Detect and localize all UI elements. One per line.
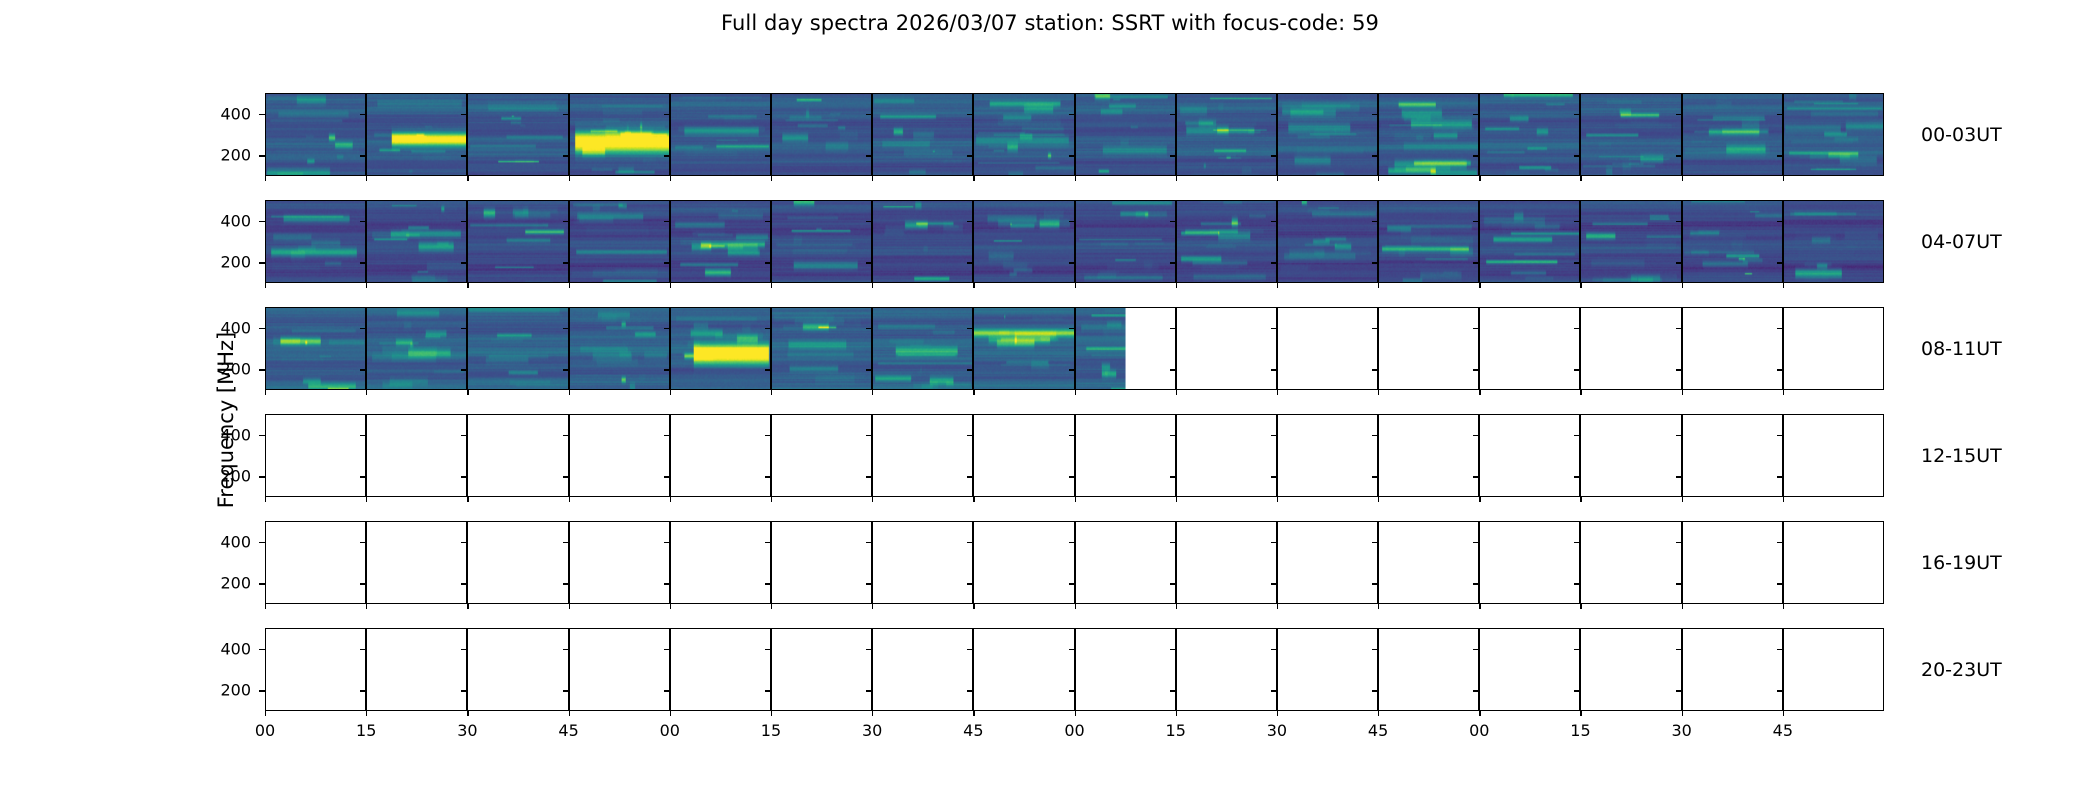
spectrogram-panel[interactable] xyxy=(1580,628,1681,711)
spectrogram-panel[interactable] xyxy=(1682,307,1783,390)
panel-tick-stub xyxy=(1574,476,1580,477)
spectrogram-image xyxy=(468,201,567,282)
spectrogram-image xyxy=(1278,94,1377,175)
x-tick-mark xyxy=(1682,283,1683,288)
panel-tick-stub xyxy=(1777,690,1783,691)
x-tick-mark xyxy=(872,711,873,716)
x-tick-mark xyxy=(1378,711,1379,716)
spectrogram-panel[interactable] xyxy=(771,307,872,390)
x-tick-mark xyxy=(1378,497,1379,502)
x-tick-label: 00 xyxy=(1469,721,1489,740)
spectrogram-panel[interactable] xyxy=(366,200,467,283)
spectrogram-panel[interactable] xyxy=(1580,93,1681,176)
spectrogram-panel[interactable] xyxy=(973,93,1074,176)
panel-tick-stub xyxy=(1473,155,1479,156)
spectrogram-panel[interactable] xyxy=(467,521,568,604)
panel-tick-stub xyxy=(360,435,366,436)
x-tick-label: 30 xyxy=(1267,721,1287,740)
spectrogram-panel[interactable] xyxy=(1479,628,1580,711)
spectrogram-panel[interactable] xyxy=(670,628,771,711)
panel-tick-stub xyxy=(765,476,771,477)
panel-tick-stub xyxy=(1473,369,1479,370)
spectrogram-image xyxy=(1480,201,1579,282)
x-tick-mark xyxy=(1075,390,1076,395)
x-tick-mark xyxy=(670,711,671,716)
spectrogram-panel[interactable] xyxy=(1682,414,1783,497)
panel-tick-stub xyxy=(1574,262,1580,263)
spectrogram-panel[interactable] xyxy=(1176,628,1277,711)
spectrogram-panel[interactable] xyxy=(265,200,366,283)
x-tick-mark xyxy=(366,497,367,502)
panel-tick-stub xyxy=(1676,435,1682,436)
spectrogram-panel[interactable] xyxy=(872,628,973,711)
panel-tick-stub xyxy=(765,155,771,156)
spectrogram-image xyxy=(367,308,466,389)
panel-tick-stub xyxy=(664,114,670,115)
panel-tick-stub xyxy=(563,690,569,691)
spectrogram-panel[interactable] xyxy=(1783,414,1884,497)
spectrogram-panel[interactable] xyxy=(1378,200,1479,283)
panel-tick-stub xyxy=(1473,435,1479,436)
panel-tick-stub xyxy=(664,583,670,584)
panel-tick-stub xyxy=(1372,542,1378,543)
spectrogram-image xyxy=(1784,94,1883,175)
spectrogram-panel[interactable] xyxy=(670,93,771,176)
panel-tick-stub xyxy=(1372,649,1378,650)
spectrogram-image xyxy=(671,201,770,282)
panel-tick-stub xyxy=(664,649,670,650)
spectrogram-panel[interactable] xyxy=(1075,93,1176,176)
panel-tick-stub xyxy=(1676,690,1682,691)
figure-title: Full day spectra 2026/03/07 station: SSR… xyxy=(0,0,2100,46)
spectrogram-panel[interactable] xyxy=(973,414,1074,497)
panel-tick-stub xyxy=(967,328,973,329)
x-tick-mark xyxy=(467,711,468,716)
x-tick-mark xyxy=(467,176,468,181)
y-tick-label: 200 xyxy=(185,360,251,379)
panel-tick-stub xyxy=(1069,583,1075,584)
spectrogram-panel[interactable] xyxy=(872,93,973,176)
panel-tick-stub xyxy=(1777,328,1783,329)
spectrogram-panel[interactable] xyxy=(569,628,670,711)
x-tick-mark xyxy=(1176,497,1177,502)
spectrogram-panel[interactable] xyxy=(1378,628,1479,711)
panel-tick-stub xyxy=(360,328,366,329)
panel-tick-stub xyxy=(563,114,569,115)
spectrogram-panel[interactable] xyxy=(1277,628,1378,711)
panel-tick-stub xyxy=(967,542,973,543)
panel-tick-stub xyxy=(765,583,771,584)
x-tick-mark xyxy=(771,176,772,181)
spectrogram-panel[interactable] xyxy=(1580,521,1681,604)
panel-tick-stub xyxy=(765,369,771,370)
panel-tick-stub xyxy=(360,583,366,584)
spectrogram-panel[interactable] xyxy=(1378,93,1479,176)
x-tick-mark xyxy=(872,497,873,502)
x-tick-mark xyxy=(1783,711,1784,716)
spectrogram-panel[interactable] xyxy=(1682,200,1783,283)
spectrogram-panel[interactable] xyxy=(265,93,366,176)
panel-tick-stub xyxy=(1473,476,1479,477)
spectrogram-image xyxy=(1177,94,1276,175)
x-tick-mark xyxy=(771,711,772,716)
spectrogram-panel[interactable] xyxy=(1783,628,1884,711)
panel-tick-stub xyxy=(1574,690,1580,691)
spectrogram-row xyxy=(265,307,1884,390)
panel-tick-stub xyxy=(1777,649,1783,650)
panel-tick-stub xyxy=(461,114,467,115)
row-time-label: 16-19UT xyxy=(1921,552,2002,574)
spectrogram-panel[interactable] xyxy=(771,521,872,604)
spectrogram-panel[interactable] xyxy=(366,307,467,390)
x-tick-mark xyxy=(973,283,974,288)
y-tick-mark xyxy=(259,262,265,263)
spectrogram-panel[interactable] xyxy=(569,307,670,390)
y-tick-label: 400 xyxy=(185,425,251,444)
panel-tick-stub xyxy=(1271,221,1277,222)
panel-tick-stub xyxy=(1170,155,1176,156)
x-tick-mark xyxy=(973,176,974,181)
panel-tick-stub xyxy=(1069,476,1075,477)
panel-tick-stub xyxy=(866,690,872,691)
x-tick-mark xyxy=(569,604,570,609)
panel-tick-stub xyxy=(967,114,973,115)
y-tick-mark xyxy=(259,542,265,543)
spectrogram-panel[interactable] xyxy=(1682,93,1783,176)
x-tick-label: 15 xyxy=(1166,721,1186,740)
spectrogram-panel[interactable] xyxy=(1580,200,1681,283)
x-tick-mark xyxy=(670,604,671,609)
x-tick-mark xyxy=(1378,176,1379,181)
x-tick-mark xyxy=(569,283,570,288)
row-time-label: 00-03UT xyxy=(1921,124,2002,146)
panel-tick-stub xyxy=(1574,542,1580,543)
spectrogram-panel[interactable] xyxy=(1277,414,1378,497)
spectrogram-image xyxy=(468,94,567,175)
spectrogram-panel[interactable] xyxy=(1176,521,1277,604)
panel-tick-stub xyxy=(664,155,670,156)
x-tick-mark xyxy=(1176,711,1177,716)
x-tick-mark xyxy=(1277,711,1278,716)
y-tick-label: 400 xyxy=(185,104,251,123)
x-tick-mark xyxy=(1479,283,1480,288)
y-tick-label: 200 xyxy=(185,467,251,486)
panel-tick-stub xyxy=(1069,542,1075,543)
panel-tick-stub xyxy=(664,221,670,222)
spectrogram-panel[interactable] xyxy=(1682,521,1783,604)
x-tick-mark xyxy=(670,283,671,288)
x-tick-label: 15 xyxy=(1570,721,1590,740)
spectrogram-panel[interactable] xyxy=(1277,521,1378,604)
spectrogram-panel[interactable] xyxy=(1176,200,1277,283)
x-tick-label: 45 xyxy=(963,721,983,740)
spectrogram-panel[interactable] xyxy=(1176,414,1277,497)
panel-tick-stub xyxy=(664,476,670,477)
x-tick-label: 45 xyxy=(1368,721,1388,740)
spectrogram-panel[interactable] xyxy=(973,521,1074,604)
spectrogram-image xyxy=(1076,94,1175,175)
x-tick-mark xyxy=(670,497,671,502)
panel-tick-stub xyxy=(1271,583,1277,584)
spectrogram-panel[interactable] xyxy=(569,414,670,497)
spectrogram-panel[interactable] xyxy=(1783,200,1884,283)
panel-tick-stub xyxy=(1170,542,1176,543)
x-tick-mark xyxy=(265,390,266,395)
spectrogram-panel[interactable] xyxy=(366,93,467,176)
panel-tick-stub xyxy=(866,155,872,156)
spectrogram-panel[interactable] xyxy=(467,200,568,283)
panel-tick-stub xyxy=(1777,369,1783,370)
spectrogram-panel[interactable] xyxy=(872,521,973,604)
spectrogram-panel[interactable] xyxy=(265,414,366,497)
spectrogram-panel[interactable] xyxy=(1378,307,1479,390)
spectrogram-image xyxy=(1076,308,1175,389)
spectrogram-panel[interactable] xyxy=(670,200,771,283)
spectrogram-image xyxy=(1581,94,1680,175)
spectrogram-panel[interactable] xyxy=(366,521,467,604)
panel-tick-stub xyxy=(461,262,467,263)
panel-tick-stub xyxy=(1069,435,1075,436)
spectrogram-panel[interactable] xyxy=(366,628,467,711)
spectrogram-panel[interactable] xyxy=(1378,414,1479,497)
panel-tick-stub xyxy=(1271,369,1277,370)
spectrogram-image xyxy=(570,201,669,282)
x-tick-mark xyxy=(265,604,266,609)
panel-tick-stub xyxy=(1170,262,1176,263)
x-tick-mark xyxy=(1176,390,1177,395)
spectrogram-panel[interactable] xyxy=(1479,521,1580,604)
x-tick-mark xyxy=(467,390,468,395)
panel-tick-stub xyxy=(461,369,467,370)
spectrogram-image xyxy=(266,201,365,282)
panel-tick-stub xyxy=(461,583,467,584)
spectrogram-panel[interactable] xyxy=(265,307,366,390)
panel-tick-stub xyxy=(967,583,973,584)
y-tick-label: 200 xyxy=(185,681,251,700)
panel-tick-stub xyxy=(1574,435,1580,436)
x-tick-mark xyxy=(1176,176,1177,181)
spectrogram-panel[interactable] xyxy=(467,628,568,711)
panel-tick-stub xyxy=(1372,328,1378,329)
panel-tick-stub xyxy=(1777,262,1783,263)
spectrogram-image xyxy=(468,308,567,389)
x-tick-mark xyxy=(1580,390,1581,395)
panel-tick-stub xyxy=(360,262,366,263)
spectrogram-panel[interactable] xyxy=(1783,307,1884,390)
x-tick-mark xyxy=(1176,283,1177,288)
x-tick-mark xyxy=(1479,711,1480,716)
x-tick-mark xyxy=(1075,604,1076,609)
x-tick-mark xyxy=(1783,390,1784,395)
panel-tick-stub xyxy=(360,690,366,691)
spectrogram-panel[interactable] xyxy=(771,628,872,711)
spectrogram-panel[interactable] xyxy=(1075,521,1176,604)
panel-tick-stub xyxy=(1372,476,1378,477)
x-tick-mark xyxy=(265,711,266,716)
x-tick-mark xyxy=(1479,390,1480,395)
spectrogram-panel[interactable] xyxy=(670,307,771,390)
spectrogram-figure: Full day spectra 2026/03/07 station: SSR… xyxy=(0,0,2100,800)
spectrogram-image xyxy=(1683,201,1782,282)
panel-tick-stub xyxy=(563,476,569,477)
x-tick-mark xyxy=(1783,283,1784,288)
spectrogram-panel[interactable] xyxy=(467,93,568,176)
x-tick-mark xyxy=(569,176,570,181)
panel-tick-stub xyxy=(664,328,670,329)
spectrogram-image xyxy=(873,308,972,389)
spectrogram-row xyxy=(265,521,1884,604)
panel-tick-stub xyxy=(765,690,771,691)
spectrogram-panel[interactable] xyxy=(670,521,771,604)
spectrogram-panel[interactable] xyxy=(1783,93,1884,176)
y-tick-mark xyxy=(259,155,265,156)
y-tick-mark xyxy=(259,583,265,584)
panel-tick-stub xyxy=(1170,221,1176,222)
panel-tick-stub xyxy=(765,542,771,543)
panel-tick-stub xyxy=(1676,328,1682,329)
panel-tick-stub xyxy=(1473,328,1479,329)
spectrogram-image xyxy=(1278,201,1377,282)
x-tick-mark xyxy=(1176,604,1177,609)
spectrogram-panel[interactable] xyxy=(569,200,670,283)
spectrogram-panel[interactable] xyxy=(1783,521,1884,604)
panel-tick-stub xyxy=(1676,583,1682,584)
spectrogram-panel[interactable] xyxy=(1075,200,1176,283)
spectrogram-panel[interactable] xyxy=(1580,307,1681,390)
spectrogram-panel[interactable] xyxy=(265,628,366,711)
panel-tick-stub xyxy=(967,690,973,691)
panel-tick-stub xyxy=(1372,583,1378,584)
x-tick-mark xyxy=(366,390,367,395)
panel-tick-stub xyxy=(1170,328,1176,329)
spectrogram-panel[interactable] xyxy=(973,628,1074,711)
spectrogram-panel[interactable] xyxy=(1378,521,1479,604)
spectrogram-panel[interactable] xyxy=(771,200,872,283)
spectrogram-panel[interactable] xyxy=(1075,628,1176,711)
spectrogram-panel[interactable] xyxy=(1580,414,1681,497)
spectrogram-panel[interactable] xyxy=(872,200,973,283)
spectrogram-panel[interactable] xyxy=(366,414,467,497)
y-tick-label: 400 xyxy=(185,639,251,658)
panel-tick-stub xyxy=(1473,262,1479,263)
panel-tick-stub xyxy=(1676,369,1682,370)
spectrogram-panel[interactable] xyxy=(670,414,771,497)
spectrogram-image xyxy=(772,94,871,175)
panel-tick-stub xyxy=(1372,221,1378,222)
spectrogram-panel[interactable] xyxy=(1176,307,1277,390)
spectrogram-panel[interactable] xyxy=(1479,307,1580,390)
panel-tick-stub xyxy=(1069,369,1075,370)
spectrogram-panel[interactable] xyxy=(569,93,670,176)
panel-tick-stub xyxy=(1777,476,1783,477)
spectrogram-panel[interactable] xyxy=(872,414,973,497)
spectrogram-panel[interactable] xyxy=(1075,307,1176,390)
spectrogram-panel[interactable] xyxy=(872,307,973,390)
panel-tick-stub xyxy=(1574,155,1580,156)
spectrogram-panel[interactable] xyxy=(1479,93,1580,176)
panel-tick-stub xyxy=(866,435,872,436)
panel-tick-stub xyxy=(1372,690,1378,691)
panel-tick-stub xyxy=(1069,690,1075,691)
spectrogram-panel[interactable] xyxy=(973,307,1074,390)
spectrogram-panel[interactable] xyxy=(1682,628,1783,711)
spectrogram-panel[interactable] xyxy=(1277,200,1378,283)
spectrogram-panel[interactable] xyxy=(569,521,670,604)
panel-tick-stub xyxy=(1271,476,1277,477)
x-tick-mark xyxy=(366,283,367,288)
panel-tick-stub xyxy=(967,221,973,222)
spectrogram-panel[interactable] xyxy=(1479,414,1580,497)
panel-tick-stub xyxy=(461,221,467,222)
panel-tick-stub xyxy=(563,435,569,436)
panel-tick-stub xyxy=(563,262,569,263)
x-tick-mark xyxy=(1277,176,1278,181)
x-tick-mark xyxy=(265,176,266,181)
panel-tick-stub xyxy=(1676,221,1682,222)
panel-tick-stub xyxy=(1271,328,1277,329)
spectrogram-panel[interactable] xyxy=(771,93,872,176)
spectrogram-panel[interactable] xyxy=(1176,93,1277,176)
spectrogram-panel[interactable] xyxy=(265,521,366,604)
panel-tick-stub xyxy=(461,328,467,329)
panel-tick-stub xyxy=(1473,690,1479,691)
panel-tick-stub xyxy=(765,435,771,436)
panel-tick-stub xyxy=(664,435,670,436)
panel-tick-stub xyxy=(866,583,872,584)
panel-tick-stub xyxy=(1574,114,1580,115)
spectrogram-panel[interactable] xyxy=(771,414,872,497)
x-tick-mark xyxy=(1075,176,1076,181)
spectrogram-image xyxy=(1581,201,1680,282)
x-tick-label: 15 xyxy=(761,721,781,740)
spectrogram-panel[interactable] xyxy=(467,307,568,390)
y-tick-mark xyxy=(259,435,265,436)
spectrogram-panel[interactable] xyxy=(1479,200,1580,283)
panel-tick-stub xyxy=(1574,221,1580,222)
panel-tick-stub xyxy=(1473,114,1479,115)
x-tick-mark xyxy=(467,497,468,502)
panel-tick-stub xyxy=(866,476,872,477)
panel-tick-stub xyxy=(563,328,569,329)
x-tick-mark xyxy=(1682,604,1683,609)
x-tick-mark xyxy=(1580,604,1581,609)
panel-tick-stub xyxy=(1777,155,1783,156)
spectrogram-panel[interactable] xyxy=(1277,307,1378,390)
panel-tick-stub xyxy=(967,476,973,477)
spectrogram-image xyxy=(671,94,770,175)
x-tick-mark xyxy=(973,711,974,716)
row-time-label: 08-11UT xyxy=(1921,338,2002,360)
panel-tick-stub xyxy=(1271,649,1277,650)
y-tick-mark xyxy=(259,690,265,691)
panel-tick-stub xyxy=(1069,328,1075,329)
y-tick-label: 200 xyxy=(185,146,251,165)
spectrogram-panel[interactable] xyxy=(1277,93,1378,176)
panel-tick-stub xyxy=(1372,155,1378,156)
spectrogram-image xyxy=(1379,94,1478,175)
spectrogram-panel[interactable] xyxy=(1075,414,1176,497)
panel-tick-stub xyxy=(1676,155,1682,156)
x-tick-label: 30 xyxy=(1671,721,1691,740)
spectrogram-panel[interactable] xyxy=(467,414,568,497)
x-tick-mark xyxy=(872,604,873,609)
spectrogram-panel[interactable] xyxy=(973,200,1074,283)
y-tick-mark xyxy=(259,221,265,222)
panel-tick-stub xyxy=(765,221,771,222)
x-tick-mark xyxy=(265,497,266,502)
panel-tick-stub xyxy=(1473,221,1479,222)
panel-tick-stub xyxy=(1372,262,1378,263)
